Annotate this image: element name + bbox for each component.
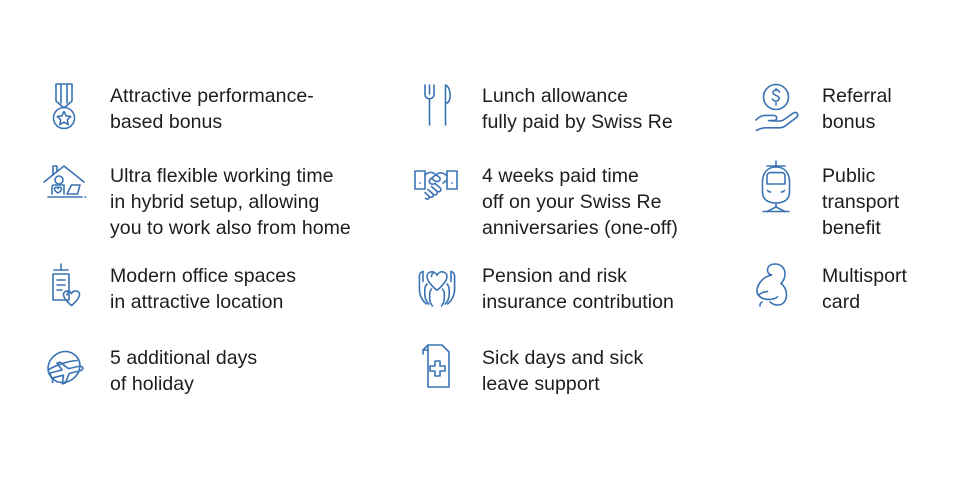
benefit-label: Public transport benefit <box>822 158 899 241</box>
benefit-label: Pension and risk insurance contribution <box>482 258 674 315</box>
benefit-label: Modern office spaces in attractive locat… <box>110 258 296 315</box>
benefit-label: Ultra flexible working time in hybrid se… <box>110 158 351 241</box>
tram-icon <box>752 158 808 214</box>
benefit-item-paid-time-off: 4 weeks paid time off on your Swiss Re a… <box>412 158 678 241</box>
medical-document-icon <box>412 340 468 396</box>
home-office-laptop-icon <box>40 158 96 214</box>
benefit-label: 4 weeks paid time off on your Swiss Re a… <box>482 158 678 241</box>
benefit-item-pension-insurance: Pension and risk insurance contribution <box>412 258 674 315</box>
benefit-item-modern-office-spaces: Modern office spaces in attractive locat… <box>40 258 296 315</box>
office-building-heart-icon <box>40 258 96 314</box>
medal-star-icon <box>40 78 96 134</box>
benefit-label: Multisport card <box>822 258 907 315</box>
airplane-globe-icon <box>40 340 96 396</box>
benefit-label: Sick days and sick leave support <box>482 340 643 397</box>
benefit-item-lunch-allowance: Lunch allowance fully paid by Swiss Re <box>412 78 673 135</box>
benefit-label: Referral bonus <box>822 78 892 135</box>
benefit-item-referral-bonus: Referral bonus <box>752 78 892 135</box>
benefit-item-sick-days: Sick days and sick leave support <box>412 340 643 397</box>
hands-holding-heart-icon <box>412 258 468 314</box>
benefits-grid: Attractive performance- based bonus Ultr… <box>0 0 970 485</box>
flexed-bicep-icon <box>752 258 808 314</box>
benefit-item-additional-holiday: 5 additional days of holiday <box>40 340 257 397</box>
hand-holding-coin-icon <box>752 78 808 134</box>
benefit-label: Lunch allowance fully paid by Swiss Re <box>482 78 673 135</box>
benefit-item-public-transport: Public transport benefit <box>752 158 899 241</box>
fork-knife-icon <box>412 78 468 134</box>
benefit-item-attractive-bonus: Attractive performance- based bonus <box>40 78 314 135</box>
benefit-label: Attractive performance- based bonus <box>110 78 314 135</box>
benefit-item-flexible-working-time: Ultra flexible working time in hybrid se… <box>40 158 351 241</box>
benefit-item-multisport-card: Multisport card <box>752 258 907 315</box>
benefit-label: 5 additional days of holiday <box>110 340 257 397</box>
handshake-icon <box>412 158 468 214</box>
